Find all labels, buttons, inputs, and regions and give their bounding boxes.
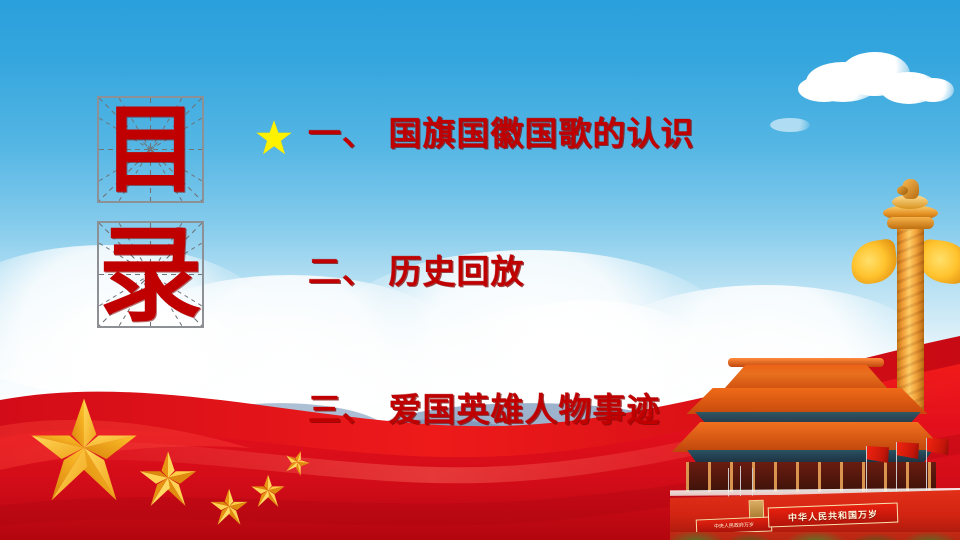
gold-star-large [28, 396, 140, 504]
column-plate [887, 217, 934, 229]
grid-box-title-2: 录 [97, 221, 204, 328]
gold-star-small [209, 488, 249, 526]
slide-canvas: 中央人民政府万岁 中华人民共和国万岁 [0, 0, 960, 540]
secondary-banner-text: 中央人民政府万岁 [714, 521, 754, 530]
toc-item-1[interactable]: 一、 国旗国徽国歌的认识 [256, 112, 726, 184]
cloud-board-left [848, 238, 899, 286]
flag-pole [896, 442, 897, 494]
colonnade [686, 462, 936, 492]
cumulus-cloud [770, 118, 810, 132]
cumulus-cloud [912, 78, 954, 102]
hou-beast-icon [902, 179, 919, 199]
flag-pole [866, 446, 867, 494]
cumulus-cloud [798, 76, 850, 102]
flag-pole [926, 438, 927, 494]
main-banner-text: 中华人民共和国万岁 [788, 507, 878, 523]
gold-star-small [138, 450, 198, 508]
star-bullet-icon [256, 120, 292, 156]
toc-item-3-label: 三、 爱国英雄人物事迹 [308, 388, 661, 432]
grid-box-title-1: 目 [97, 96, 204, 203]
toc-item-2[interactable]: 二、 历史回放 [256, 184, 726, 256]
tiananmen-gate: 中央人民政府万岁 中华人民共和国万岁 [670, 350, 960, 540]
toc-item-1-label: 一、 国旗国徽国歌的认识 [308, 112, 695, 156]
toc-item-3[interactable]: 三、 爱国英雄人物事迹 [256, 256, 726, 328]
garden-bushes [670, 532, 960, 540]
title-char-1: 目 [99, 98, 202, 201]
toc-list: 一、 国旗国徽国歌的认识 二、 历史回放 三、 爱国英雄人物事迹 [256, 112, 726, 328]
upper-eave [676, 388, 938, 414]
gold-star-small [250, 474, 286, 508]
title-char-2: 录 [99, 223, 202, 326]
